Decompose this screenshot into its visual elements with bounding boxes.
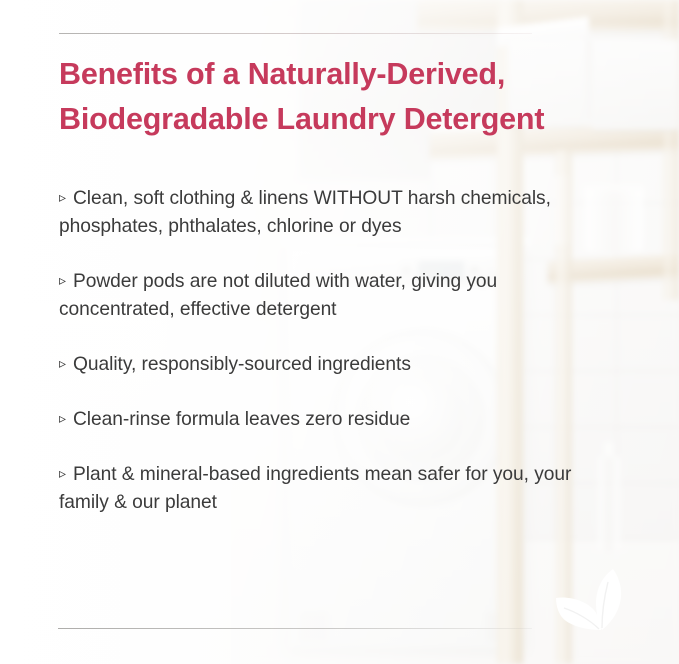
list-item-label: Clean-rinse formula leaves zero residue (73, 409, 410, 430)
benefits-list: ▹Clean, soft clothing & linens WITHOUT h… (59, 185, 584, 517)
list-item: ▹Clean-rinse formula leaves zero residue (59, 406, 584, 434)
divider-bottom (58, 628, 532, 629)
triangle-bullet-icon: ▹ (59, 190, 73, 204)
list-item: ▹Clean, soft clothing & linens WITHOUT h… (59, 185, 584, 241)
triangle-bullet-icon: ▹ (59, 411, 73, 425)
list-item-label: Powder pods are not diluted with water, … (59, 271, 497, 320)
content-layer: Benefits of a Naturally-Derived,Biodegra… (0, 0, 679, 664)
two-leaf-logo-icon (552, 568, 636, 632)
list-item-label: Quality, responsibly-sourced ingredients (73, 354, 411, 375)
triangle-bullet-icon: ▹ (59, 273, 73, 287)
page-title: Benefits of a Naturally-Derived,Biodegra… (59, 52, 639, 142)
page-title-line-2: Biodegradable Laundry Detergent (59, 102, 544, 136)
infographic-card: Benefits of a Naturally-Derived,Biodegra… (0, 0, 679, 664)
list-item: ▹Plant & mineral-based ingredients mean … (59, 461, 584, 517)
triangle-bullet-icon: ▹ (59, 356, 73, 370)
divider-top (59, 33, 532, 34)
list-item: ▹Quality, responsibly-sourced ingredient… (59, 351, 584, 379)
triangle-bullet-icon: ▹ (59, 466, 73, 480)
page-title-line-1: Benefits of a Naturally-Derived, (59, 57, 505, 91)
list-item: ▹Powder pods are not diluted with water,… (59, 268, 584, 324)
list-item-label: Plant & mineral-based ingredients mean s… (59, 464, 571, 513)
list-item-label: Clean, soft clothing & linens WITHOUT ha… (59, 188, 551, 237)
